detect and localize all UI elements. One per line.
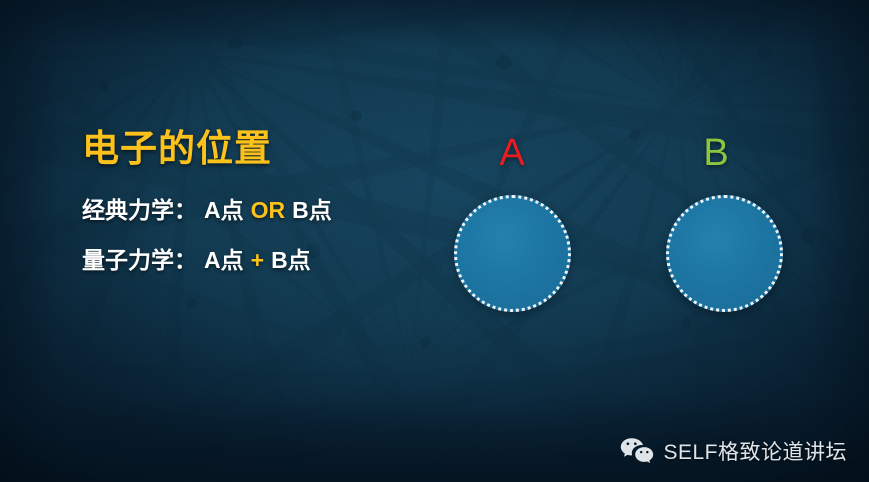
diagram-circle-b [666,195,783,312]
bullet-quantum-label: 量子力学： [82,247,197,273]
bullet-quantum-operator: + [251,247,264,273]
bullet-classical-left: A点 [204,197,244,223]
diagram-circle-a [454,195,571,312]
circle-label-a: A [482,134,542,172]
watermark-text: SELF格致论道讲坛 [663,436,847,466]
bullet-quantum-left: A点 [204,247,244,273]
bullet-classical-label: 经典力学： [82,197,197,223]
slide-text-block: 电子的位置 经典力学：A点ORB点 量子力学：A点+B点 [82,130,332,272]
bullet-classical-right: B点 [292,197,332,223]
bullet-classical-mechanics: 经典力学：A点ORB点 [82,199,332,222]
bullet-quantum-right: B点 [271,247,311,273]
bullet-quantum-mechanics: 量子力学：A点+B点 [82,249,332,272]
wechat-icon [620,437,654,465]
presentation-slide: 电子的位置 经典力学：A点ORB点 量子力学：A点+B点 A B SELF格致论… [0,0,869,482]
watermark: SELF格致论道讲坛 [620,436,847,466]
slide-title: 电子的位置 [82,130,332,167]
bullet-classical-operator: OR [251,197,286,223]
circle-label-b: B [686,134,746,172]
